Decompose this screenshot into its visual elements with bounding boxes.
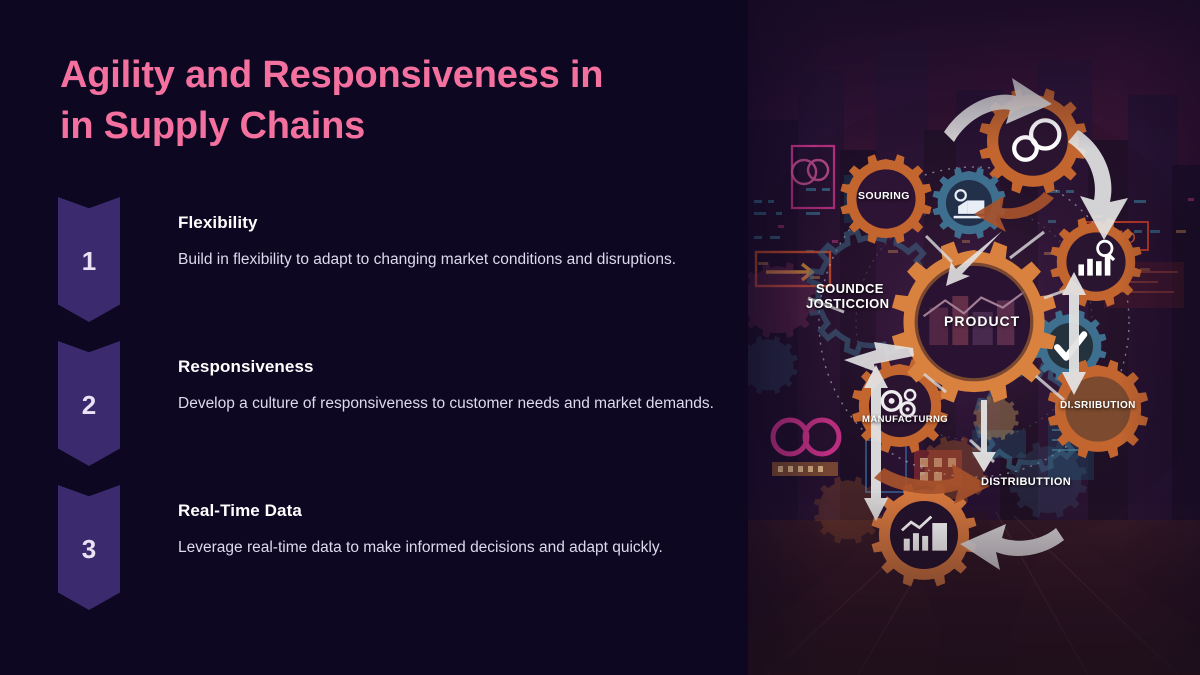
list-item-heading: Real-Time Data: [178, 501, 718, 521]
illustration-label-manufacturing: MANUFACTURNG: [862, 414, 948, 425]
list-item-number: 1: [82, 246, 96, 277]
list-item-text: Real-Time Data Leverage real-time data t…: [178, 501, 718, 562]
list-item-text: Flexibility Build in flexibility to adap…: [178, 213, 718, 274]
list-item-number-badge: 1: [58, 197, 120, 322]
list-item-number-badge: 3: [58, 485, 120, 610]
page-title: Agility and Responsiveness in in Supply …: [60, 50, 700, 151]
list-item-body: Leverage real-time data to make informed…: [178, 535, 718, 562]
content-pane: Agility and Responsiveness in in Supply …: [0, 0, 748, 675]
list-item-heading: Responsiveness: [178, 357, 718, 377]
illustration-label-distribution-bottom: DISTRIBUTTION: [981, 476, 1071, 488]
illustration-label-source-line1: SOUNDCE: [816, 281, 884, 296]
list-item-body: Build in flexibility to adapt to changin…: [178, 247, 718, 274]
list-item: 2 Responsiveness Develop a culture of re…: [58, 341, 718, 485]
list-item-text: Responsiveness Develop a culture of resp…: [178, 357, 718, 418]
slide-root: Agility and Responsiveness in in Supply …: [0, 0, 1200, 675]
list-item: 3 Real-Time Data Leverage real-time data…: [58, 485, 718, 629]
page-title-line-2: in Supply Chains: [60, 101, 700, 152]
list-item-number-badge: 2: [58, 341, 120, 466]
illustration-label-product: PRODUCT: [944, 313, 1020, 329]
illustration-label-source-line2: JOSTICCION: [806, 296, 889, 311]
illustration-label-sourcing: SOURING: [858, 190, 910, 202]
numbered-list: 1 Flexibility Build in flexibility to ad…: [58, 197, 718, 629]
list-item-body: Develop a culture of responsiveness to c…: [178, 391, 718, 418]
list-item: 1 Flexibility Build in flexibility to ad…: [58, 197, 718, 341]
supply-chain-gear-diagram: 1-7១: [748, 0, 1200, 675]
page-title-line-1: Agility and Responsiveness in: [60, 50, 700, 101]
list-item-number: 3: [82, 534, 96, 565]
list-item-heading: Flexibility: [178, 213, 718, 233]
illustration-label-distribution-right: DI.SRIIBUTION: [1060, 400, 1136, 411]
illustration-image: 1-7១: [748, 0, 1200, 675]
list-item-number: 2: [82, 390, 96, 421]
